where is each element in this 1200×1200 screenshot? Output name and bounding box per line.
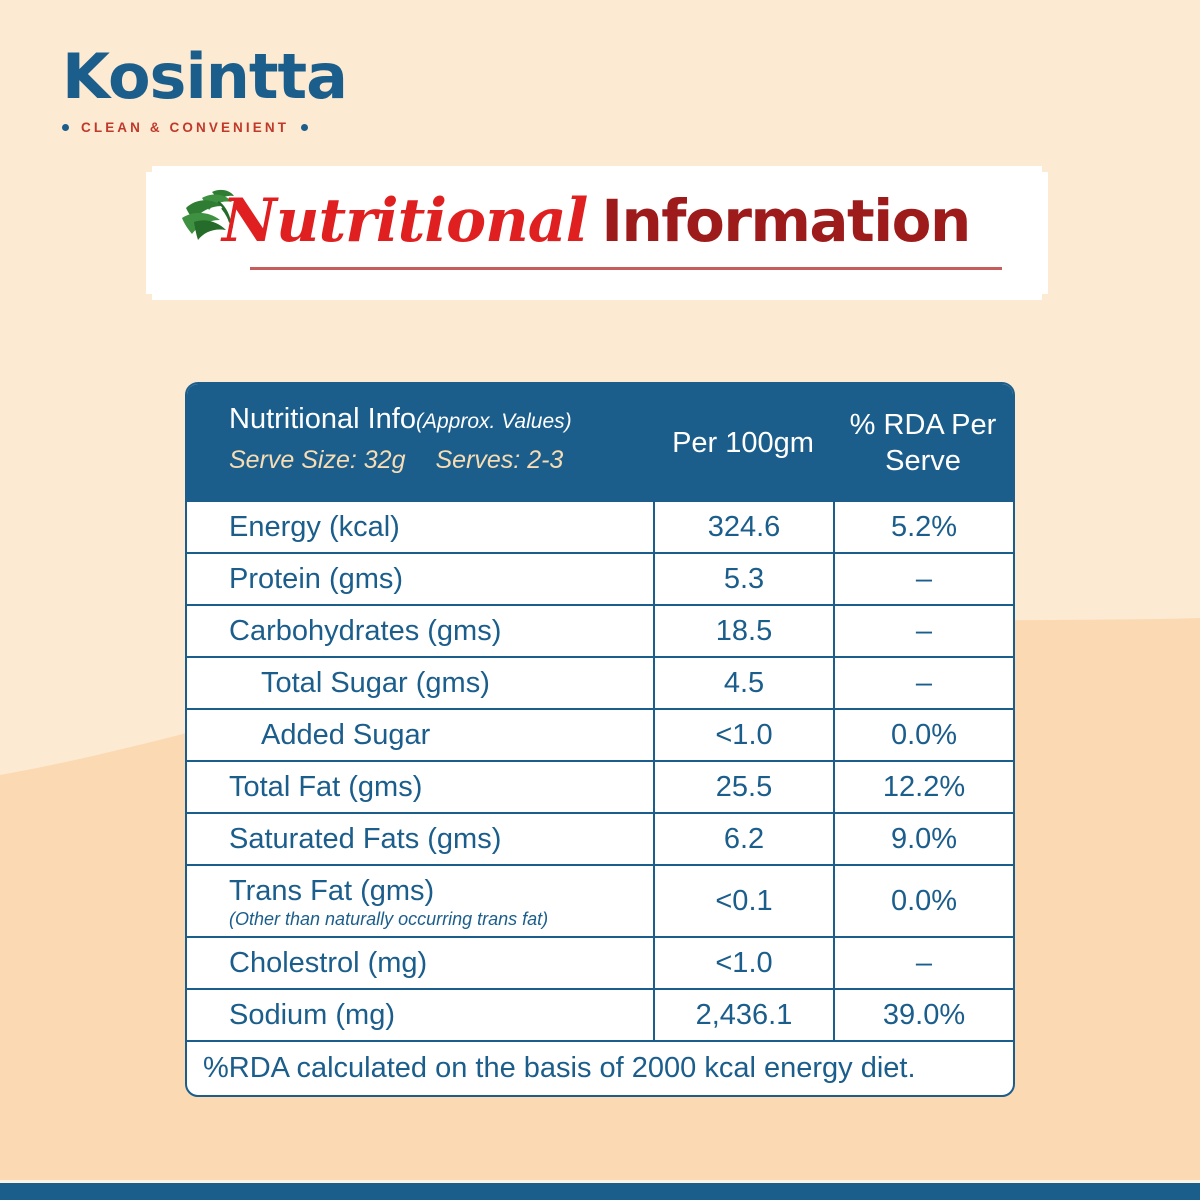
row-value-per100: 18.5 bbox=[653, 606, 833, 656]
row-value-per100: 324.6 bbox=[653, 502, 833, 552]
row-label-cell: Total Fat (gms) bbox=[187, 762, 653, 812]
table-body: Energy (kcal)324.65.2%Protein (gms)5.3–C… bbox=[187, 502, 1013, 1040]
title-banner: Nutritional Information bbox=[152, 172, 1042, 294]
nutrition-table: Nutritional Info(Approx. Values) Serve S… bbox=[185, 382, 1015, 1097]
row-label-cell: Carbohydrates (gms) bbox=[187, 606, 653, 656]
row-label: Protein (gms) bbox=[229, 560, 645, 598]
header-name-note: (Approx. Values) bbox=[416, 410, 572, 433]
poster-canvas: Kosintta CLEAN & CONVENIENT bbox=[0, 0, 1200, 1200]
table-row: Total Sugar (gms)4.5– bbox=[187, 656, 1013, 708]
row-label-cell: Saturated Fats (gms) bbox=[187, 814, 653, 864]
row-value-per100: <0.1 bbox=[653, 866, 833, 936]
banner-title: Nutritional Information bbox=[222, 182, 1032, 260]
row-value-rda: – bbox=[833, 554, 1013, 604]
header-cell-name: Nutritional Info(Approx. Values) Serve S… bbox=[187, 384, 653, 502]
row-value-per100: 5.3 bbox=[653, 554, 833, 604]
dot-right-icon bbox=[301, 124, 308, 131]
brand-tagline-row: CLEAN & CONVENIENT bbox=[62, 120, 362, 135]
row-label: Saturated Fats (gms) bbox=[229, 820, 645, 858]
row-value-per100: 25.5 bbox=[653, 762, 833, 812]
row-value-rda: 0.0% bbox=[833, 866, 1013, 936]
header-name-label: Nutritional Info bbox=[229, 403, 416, 435]
header-cell-rda: % RDA Per Serve bbox=[833, 384, 1013, 502]
row-label: Energy (kcal) bbox=[229, 508, 645, 546]
header-serve-size: Serve Size: 32g bbox=[229, 446, 406, 474]
table-row: Protein (gms)5.3– bbox=[187, 552, 1013, 604]
row-value-per100: <1.0 bbox=[653, 938, 833, 988]
table-row: Sodium (mg)2,436.139.0% bbox=[187, 988, 1013, 1040]
title-word-information: Information bbox=[601, 187, 969, 255]
row-value-rda: 0.0% bbox=[833, 710, 1013, 760]
row-value-per100: 4.5 bbox=[653, 658, 833, 708]
row-label: Trans Fat (gms) bbox=[229, 872, 645, 910]
bottom-blue-bar bbox=[0, 1183, 1200, 1200]
row-label: Carbohydrates (gms) bbox=[229, 612, 645, 650]
row-value-rda: – bbox=[833, 938, 1013, 988]
row-label-cell: Energy (kcal) bbox=[187, 502, 653, 552]
brand-tagline: CLEAN & CONVENIENT bbox=[81, 120, 289, 135]
row-label: Total Fat (gms) bbox=[229, 768, 645, 806]
row-value-per100: 2,436.1 bbox=[653, 990, 833, 1040]
row-label-cell: Protein (gms) bbox=[187, 554, 653, 604]
row-value-rda: – bbox=[833, 606, 1013, 656]
title-word-nutritional: Nutritional bbox=[222, 186, 587, 256]
title-underline bbox=[250, 267, 1002, 270]
table-row: Total Fat (gms)25.512.2% bbox=[187, 760, 1013, 812]
brand-name: Kosintta bbox=[62, 46, 362, 108]
row-value-rda: – bbox=[833, 658, 1013, 708]
table-row: Trans Fat (gms)(Other than naturally occ… bbox=[187, 864, 1013, 936]
row-label: Sodium (mg) bbox=[229, 996, 645, 1034]
row-value-rda: 12.2% bbox=[833, 762, 1013, 812]
row-label-cell: Added Sugar bbox=[187, 710, 653, 760]
row-value-per100: 6.2 bbox=[653, 814, 833, 864]
table-row: Added Sugar<1.00.0% bbox=[187, 708, 1013, 760]
header-cell-per100: Per 100gm bbox=[653, 384, 833, 502]
table-footer-note: %RDA calculated on the basis of 2000 kca… bbox=[187, 1040, 1013, 1095]
table-row: Saturated Fats (gms)6.29.0% bbox=[187, 812, 1013, 864]
header-serves: Serves: 2-3 bbox=[436, 446, 564, 474]
table-header-row: Nutritional Info(Approx. Values) Serve S… bbox=[187, 384, 1013, 502]
row-label: Total Sugar (gms) bbox=[261, 664, 645, 702]
row-value-rda: 39.0% bbox=[833, 990, 1013, 1040]
row-label: Cholestrol (mg) bbox=[229, 944, 645, 982]
dot-left-icon bbox=[62, 124, 69, 131]
header-name-line: Nutritional Info(Approx. Values) bbox=[229, 400, 653, 441]
row-label: Added Sugar bbox=[261, 716, 645, 754]
table-row: Energy (kcal)324.65.2% bbox=[187, 502, 1013, 552]
row-label-cell: Total Sugar (gms) bbox=[187, 658, 653, 708]
row-value-rda: 5.2% bbox=[833, 502, 1013, 552]
header-serve-line: Serve Size: 32gServes: 2-3 bbox=[229, 443, 653, 477]
row-label-note: (Other than naturally occurring trans fa… bbox=[229, 908, 645, 930]
row-value-rda: 9.0% bbox=[833, 814, 1013, 864]
row-label-cell: Sodium (mg) bbox=[187, 990, 653, 1040]
row-label-cell: Cholestrol (mg) bbox=[187, 938, 653, 988]
brand-logo: Kosintta CLEAN & CONVENIENT bbox=[62, 46, 362, 135]
table-row: Cholestrol (mg)<1.0– bbox=[187, 936, 1013, 988]
table-row: Carbohydrates (gms)18.5– bbox=[187, 604, 1013, 656]
row-value-per100: <1.0 bbox=[653, 710, 833, 760]
row-label-cell: Trans Fat (gms)(Other than naturally occ… bbox=[187, 866, 653, 936]
